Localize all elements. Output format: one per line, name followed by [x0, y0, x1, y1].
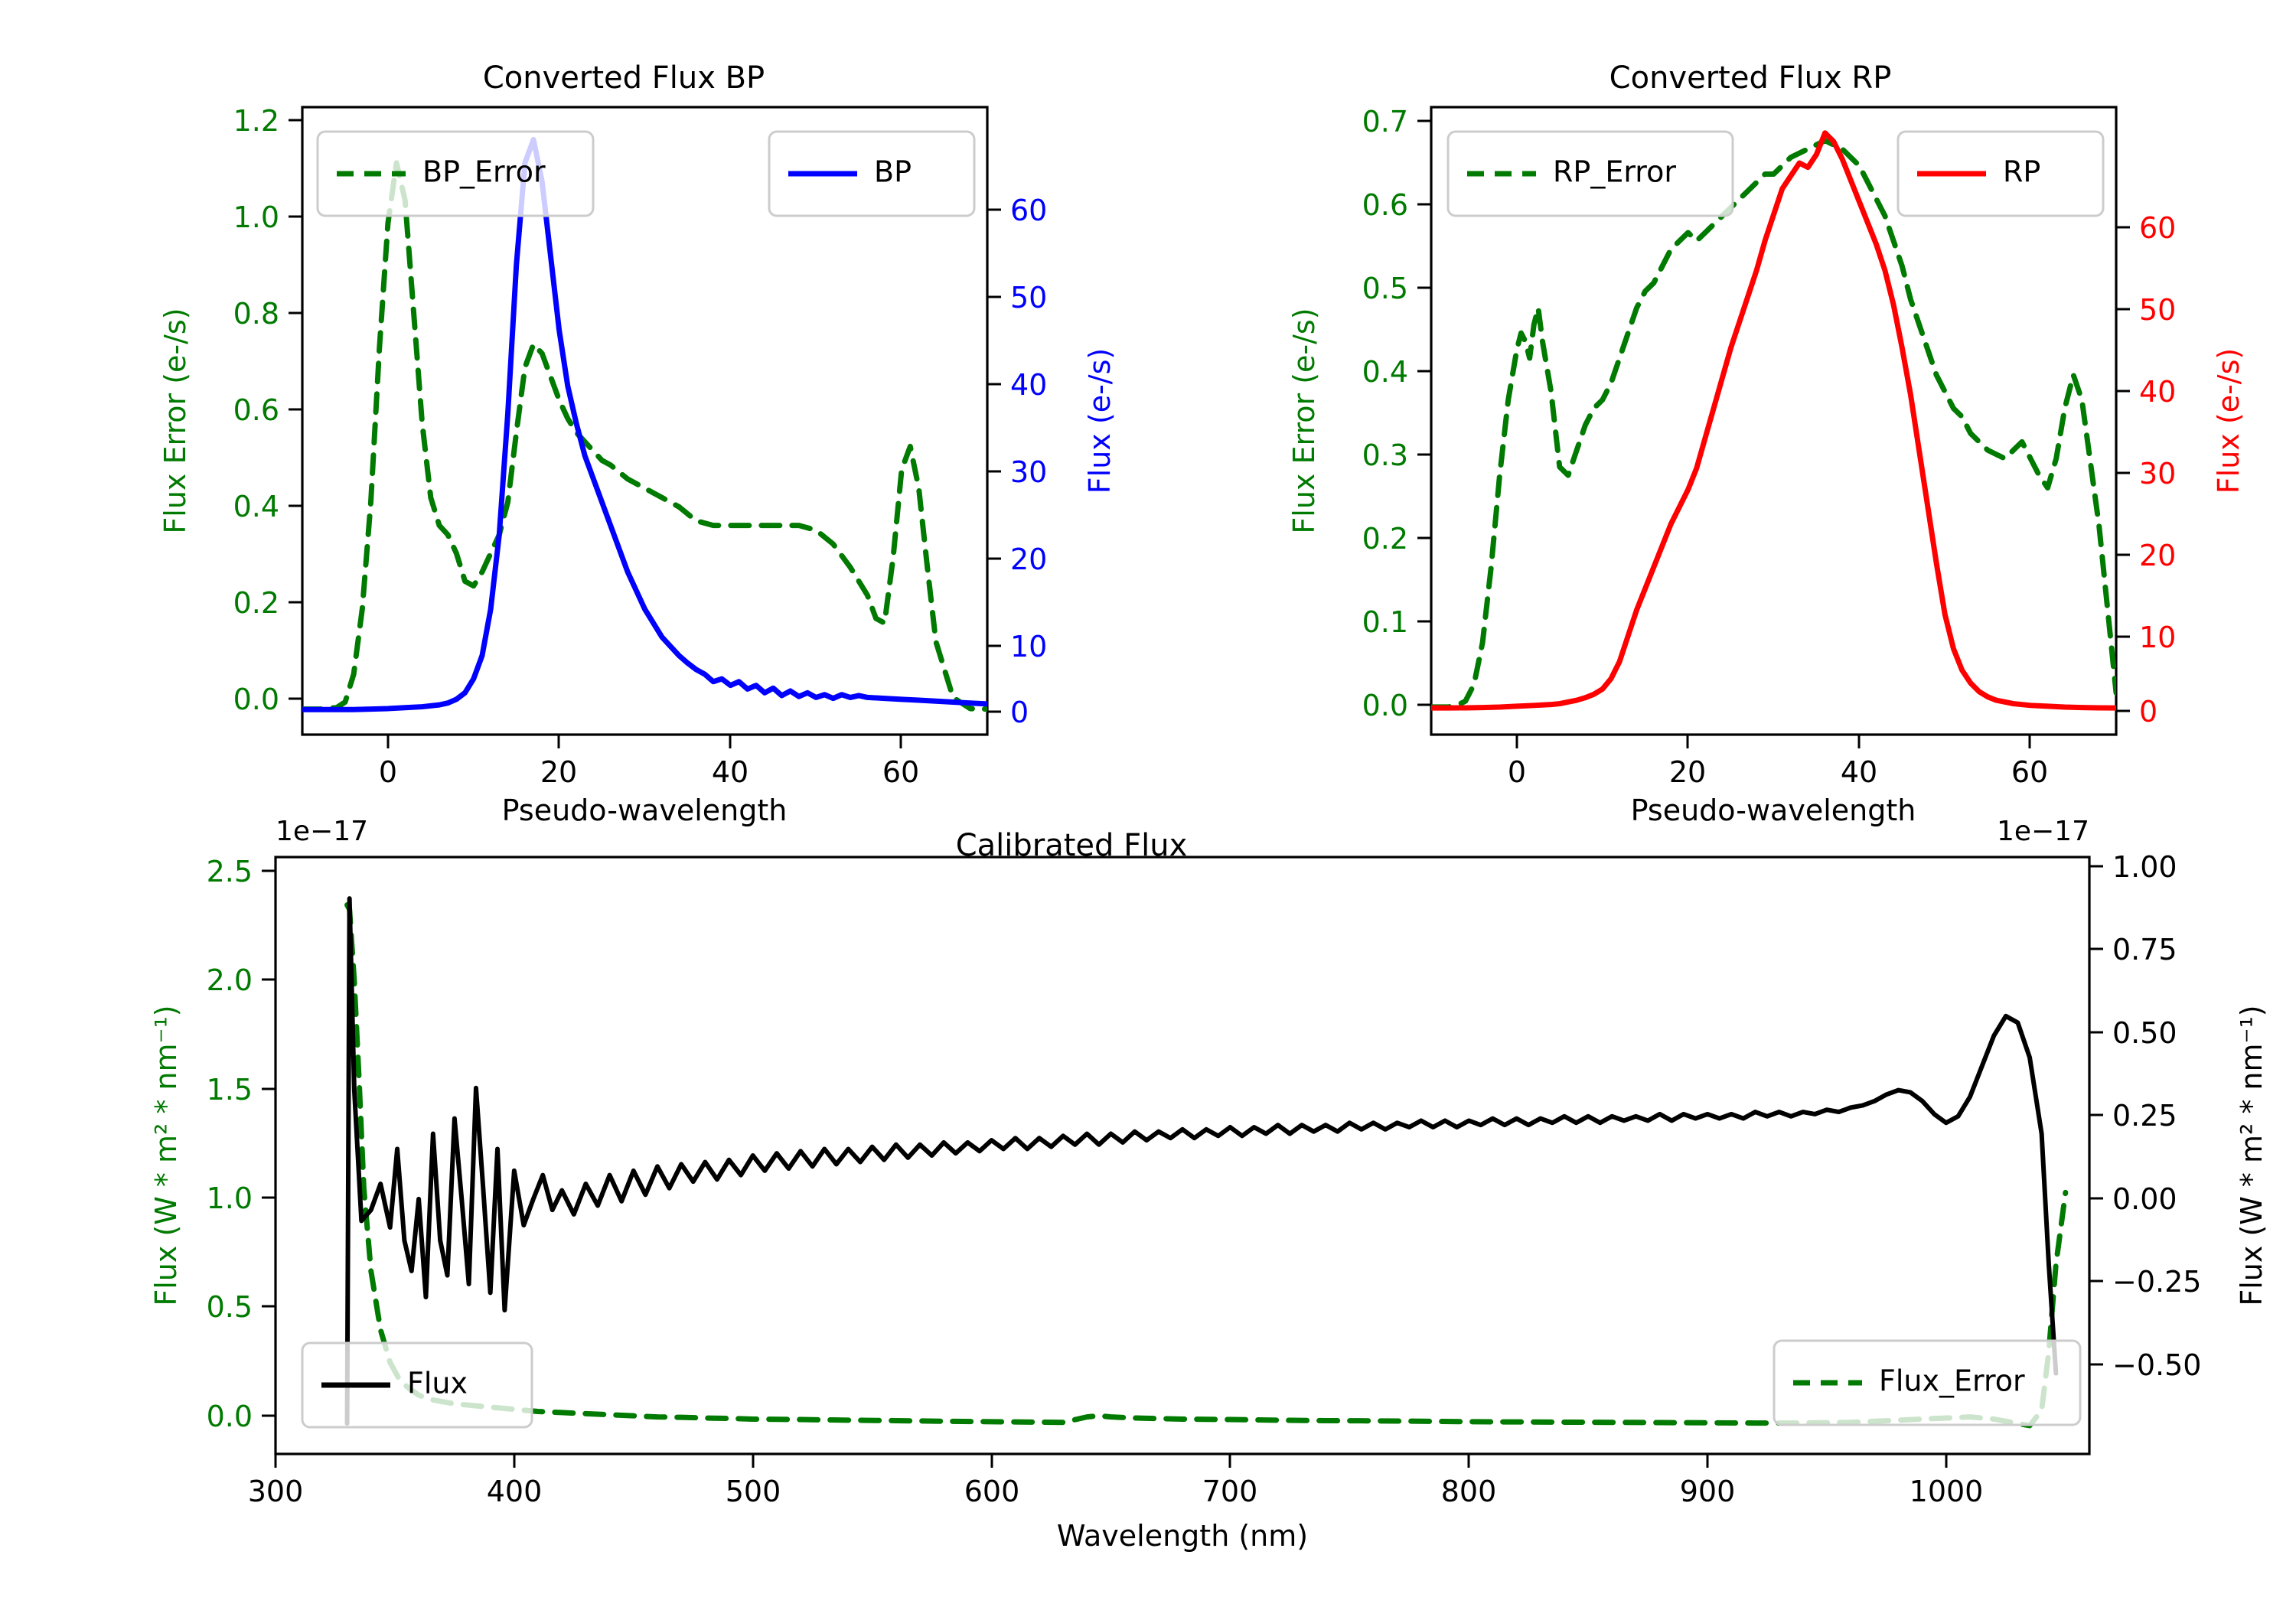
- legend-label-flux: Flux: [407, 1367, 468, 1400]
- legend-label-flux-error: Flux_Error: [1879, 1364, 2025, 1398]
- ylabel-right-rp: Flux (e-/s): [2212, 348, 2245, 494]
- y2tick-cal-0.50: 0.50: [2112, 1016, 2177, 1050]
- y2tick-rp-20: 20: [2139, 539, 2176, 572]
- xlabel-calibrated: Wavelength (nm): [1057, 1519, 1308, 1553]
- ytick-cal-2.5: 2.5: [207, 855, 253, 888]
- xtick-rp-60: 60: [2011, 755, 2048, 789]
- y-axis-left-rp: 0.7 0.6 0.5 0.4 0.3 0.2 0.1 0.0: [1362, 105, 1431, 722]
- y2tick-cal-0.25: 0.25: [2112, 1099, 2177, 1133]
- xtick-bp-20: 20: [540, 755, 577, 789]
- legend-label-bp: BP: [874, 155, 912, 189]
- legend-label-bp-error: BP_Error: [422, 155, 546, 189]
- ytick-cal-1.0: 1.0: [207, 1182, 253, 1215]
- chart-title-rp: Converted Flux RP: [1609, 60, 1892, 96]
- ylabel-left-rp: Flux Error (e-/s): [1287, 308, 1321, 533]
- x-axis-calibrated: 300 400 500 600 700 800 900 1000: [248, 1454, 1984, 1508]
- panel-calibrated-flux: Calibrated Flux 1e−17 1e−17 2.5 2.0 1.5 …: [0, 826, 2296, 1607]
- series-bp-error: [302, 163, 987, 709]
- xtick-cal-400: 400: [487, 1475, 543, 1508]
- xtick-cal-800: 800: [1441, 1475, 1497, 1508]
- legend-flux-error[interactable]: Flux_Error: [1774, 1341, 2080, 1425]
- ytick-bp-0.0: 0.0: [233, 683, 279, 716]
- plot-area-rp: [1431, 133, 2116, 708]
- xtick-cal-500: 500: [726, 1475, 781, 1508]
- ylabel-right-bp: Flux (e-/s): [1083, 348, 1117, 494]
- xtick-bp-60: 60: [882, 755, 919, 789]
- chart-title-bp: Converted Flux BP: [483, 60, 765, 96]
- y2tick-rp-50: 50: [2139, 293, 2176, 327]
- y2tick-bp-30: 30: [1010, 455, 1047, 489]
- ytick-bp-1.0: 1.0: [233, 200, 279, 234]
- xtick-cal-300: 300: [248, 1475, 304, 1508]
- ytick-rp-0.6: 0.6: [1362, 188, 1408, 222]
- ytick-rp-0.1: 0.1: [1362, 605, 1408, 639]
- y-axis-right-calibrated: 1.00 0.75 0.50 0.25 0.00 −0.25 −0.50: [2089, 850, 2201, 1382]
- xlabel-rp: Pseudo-wavelength: [1631, 794, 1916, 827]
- ylabel-right-calibrated: Flux (W * m² * nm⁻¹): [2235, 1005, 2268, 1305]
- y-axis-right-bp: 60 50 40 30 20 10 0: [987, 194, 1047, 729]
- ylabel-left-bp: Flux Error (e-/s): [158, 308, 192, 533]
- series-rp-error: [1431, 141, 2116, 707]
- y2-offset-text-calibrated: 1e−17: [1997, 816, 2089, 847]
- y-axis-right-rp: 60 50 40 30 20 10 0: [2116, 211, 2176, 729]
- plot-area-bp: [302, 140, 987, 710]
- y2tick-bp-60: 60: [1010, 194, 1047, 227]
- legend-rp[interactable]: RP: [1898, 132, 2103, 216]
- y2tick-bp-50: 50: [1010, 281, 1047, 315]
- y2tick-rp-30: 30: [2139, 457, 2176, 491]
- y2tick-cal-0.00: 0.00: [2112, 1182, 2177, 1216]
- x-axis-rp: 0 20 40 60: [1508, 735, 2048, 789]
- legend-rp-error[interactable]: RP_Error: [1448, 132, 1733, 216]
- ytick-cal-1.5: 1.5: [207, 1073, 253, 1107]
- xtick-bp-40: 40: [712, 755, 748, 789]
- ytick-bp-0.6: 0.6: [233, 393, 279, 427]
- y2tick-rp-10: 10: [2139, 621, 2176, 654]
- xtick-cal-1000: 1000: [1910, 1475, 1984, 1508]
- xtick-bp-0: 0: [379, 755, 397, 789]
- x-axis-bp: 0 20 40 60: [379, 735, 919, 789]
- ytick-cal-2.0: 2.0: [207, 963, 253, 997]
- panel-converted-flux-bp: Converted Flux BP 1.2 1.0 0.8 0.6 0.4 0.…: [0, 0, 1148, 826]
- y2tick-cal-1.00: 1.00: [2112, 850, 2177, 884]
- ytick-cal-0.0: 0.0: [207, 1400, 253, 1433]
- y2tick-rp-0: 0: [2139, 695, 2157, 729]
- y2tick-cal-neg0.25: −0.25: [2112, 1265, 2201, 1299]
- y-axis-left-calibrated: 2.5 2.0 1.5 1.0 0.5 0.0: [207, 855, 276, 1433]
- ytick-rp-0.2: 0.2: [1362, 522, 1408, 556]
- y2tick-cal-neg0.50: −0.50: [2112, 1348, 2201, 1382]
- ytick-rp-0.4: 0.4: [1362, 355, 1408, 389]
- legend-bp[interactable]: BP: [769, 132, 974, 216]
- ytick-bp-0.2: 0.2: [233, 586, 279, 620]
- legend-bp-error[interactable]: BP_Error: [318, 132, 593, 216]
- legend-label-rp: RP: [2003, 155, 2040, 189]
- ytick-bp-0.8: 0.8: [233, 297, 279, 331]
- ytick-rp-0.5: 0.5: [1362, 272, 1408, 305]
- ylabel-left-calibrated: Flux (W * m² * nm⁻¹): [149, 1005, 183, 1305]
- ytick-bp-1.2: 1.2: [233, 104, 279, 138]
- legend-flux[interactable]: Flux: [302, 1343, 532, 1427]
- y-offset-text-calibrated: 1e−17: [276, 816, 368, 847]
- ytick-cal-0.5: 0.5: [207, 1290, 253, 1324]
- matplotlib-figure: Converted Flux BP 1.2 1.0 0.8 0.6 0.4 0.…: [0, 0, 2296, 1607]
- xtick-cal-700: 700: [1202, 1475, 1258, 1508]
- xtick-cal-900: 900: [1680, 1475, 1736, 1508]
- y2tick-bp-10: 10: [1010, 630, 1047, 663]
- xtick-rp-40: 40: [1841, 755, 1877, 789]
- ytick-rp-0.3: 0.3: [1362, 438, 1408, 472]
- panel-converted-flux-rp: Converted Flux RP 0.7 0.6 0.5 0.4 0.3 0.…: [1148, 0, 2296, 826]
- y2tick-bp-0: 0: [1010, 696, 1029, 729]
- xtick-cal-600: 600: [964, 1475, 1020, 1508]
- xtick-rp-0: 0: [1508, 755, 1526, 789]
- y2tick-cal-0.75: 0.75: [2112, 933, 2177, 966]
- series-rp: [1431, 133, 2116, 708]
- ytick-rp-0.7: 0.7: [1362, 105, 1408, 139]
- xtick-rp-20: 20: [1669, 755, 1706, 789]
- ytick-bp-0.4: 0.4: [233, 490, 279, 523]
- y2tick-rp-40: 40: [2139, 375, 2176, 409]
- y2tick-rp-60: 60: [2139, 211, 2176, 245]
- legend-label-rp-error: RP_Error: [1553, 155, 1676, 189]
- y2tick-bp-40: 40: [1010, 368, 1047, 402]
- y2tick-bp-20: 20: [1010, 543, 1047, 576]
- y-axis-left-bp: 1.2 1.0 0.8 0.6 0.4 0.2 0.0: [233, 104, 302, 716]
- xlabel-bp: Pseudo-wavelength: [502, 794, 788, 827]
- ytick-rp-0.0: 0.0: [1362, 689, 1408, 722]
